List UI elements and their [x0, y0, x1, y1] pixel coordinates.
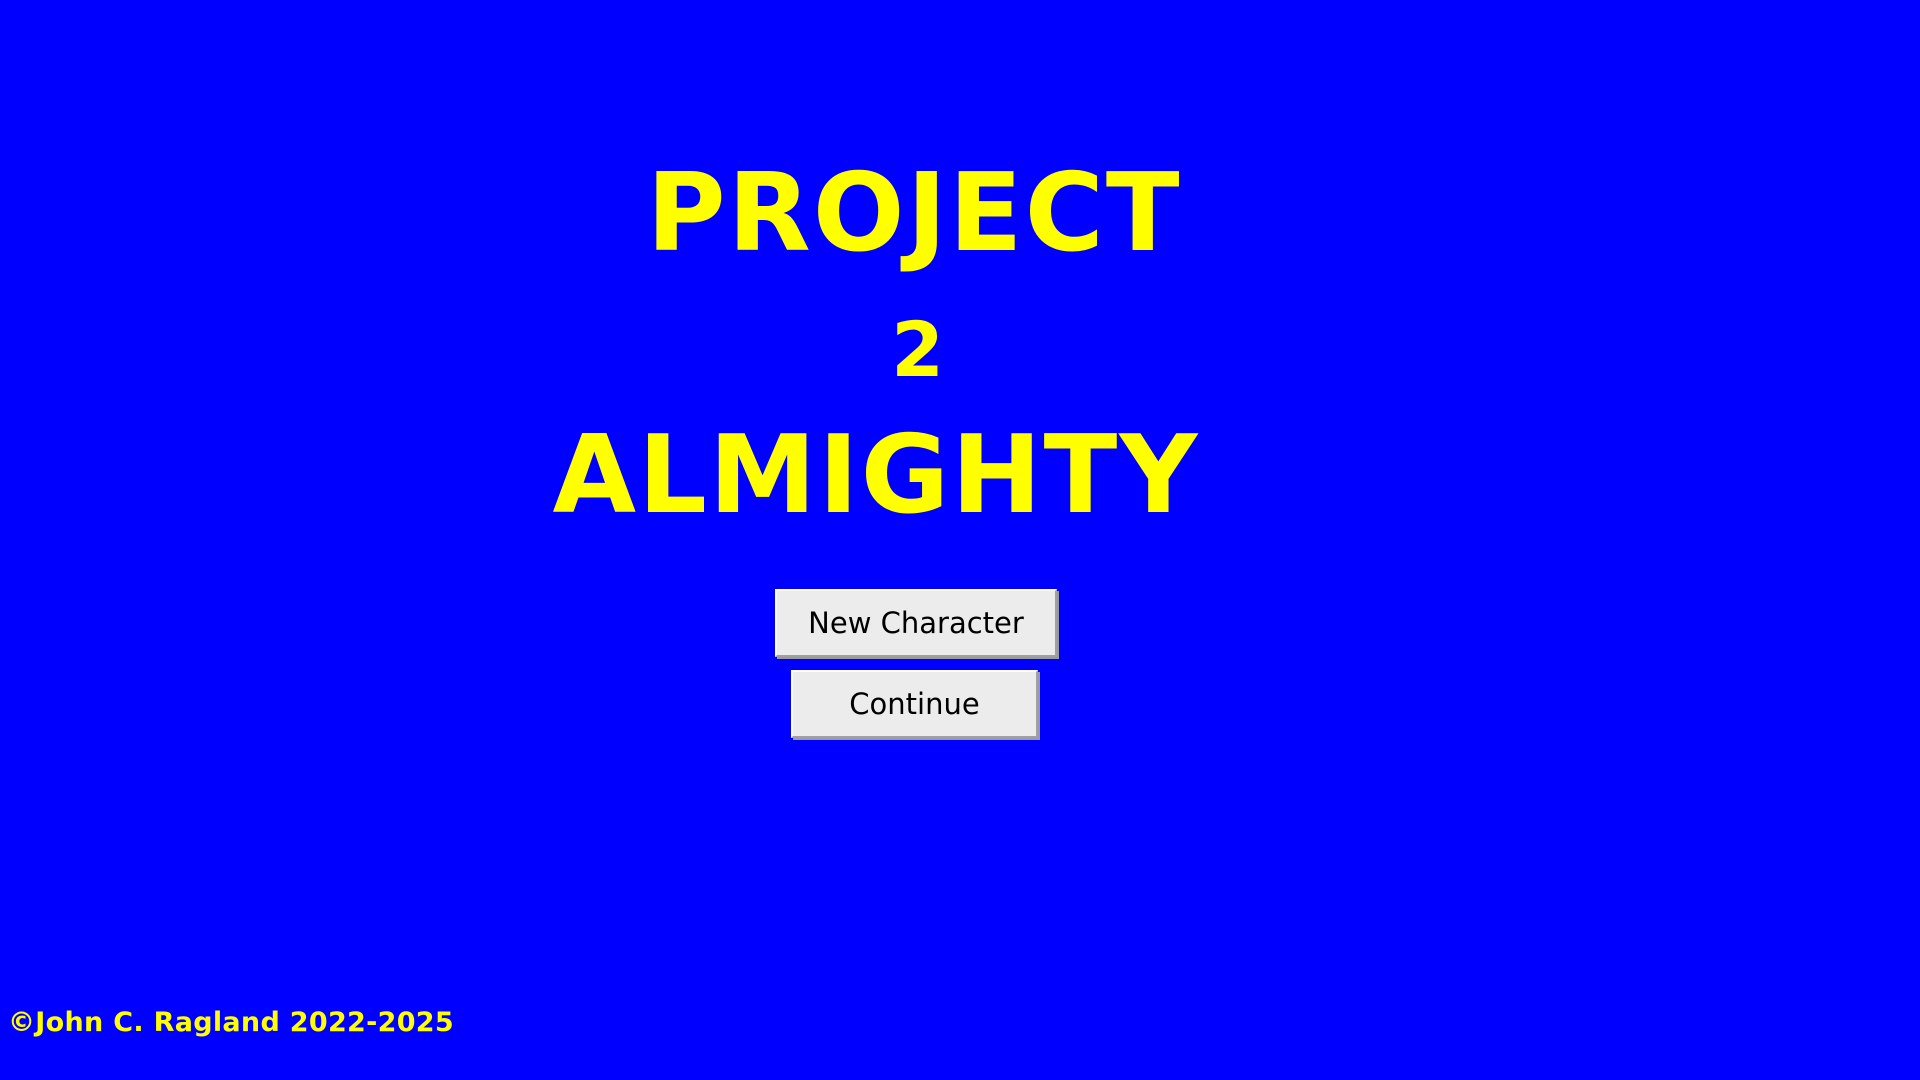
copyright-notice: ©John C. Ragland 2022-2025 — [8, 1007, 454, 1038]
continue-button[interactable]: Continue — [791, 670, 1038, 738]
game-title-line-1: PROJECT — [0, 160, 1874, 268]
new-character-button[interactable]: New Character — [775, 589, 1057, 657]
game-title-line-2: 2 — [0, 312, 1878, 388]
title-screen: PROJECT 2 ALMIGHTY New Character Continu… — [0, 0, 1920, 1080]
game-title-line-3: ALMIGHTY — [0, 422, 1836, 530]
